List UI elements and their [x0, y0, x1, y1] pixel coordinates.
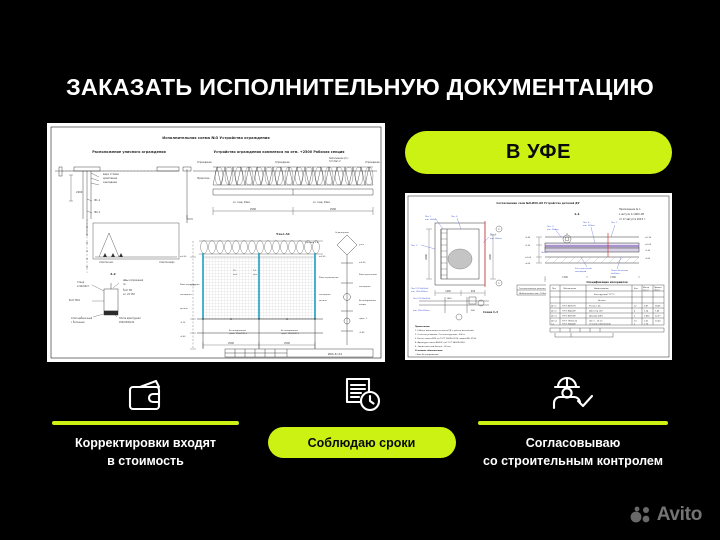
- svg-text:ГОСТ 19903-74: ГОСТ 19903-74: [562, 321, 578, 323]
- wallet-icon: [126, 374, 166, 414]
- svg-text:-0.60: -0.60: [645, 258, 651, 260]
- svg-text:эл. соед. d4мм: эл. соед. d4мм: [233, 201, 250, 204]
- svg-text:±0.00: ±0.00: [319, 256, 326, 258]
- svg-text:закладная: закладная: [359, 286, 371, 288]
- svg-text:±0.00: ±0.00: [359, 262, 366, 264]
- svg-text:Узел А1: Узел А1: [276, 232, 290, 236]
- svg-text:Плита арматурная: Плита арматурная: [119, 317, 141, 320]
- avito-logo: Avito: [630, 504, 702, 526]
- svg-text:-0.60: -0.60: [525, 263, 531, 265]
- svg-text:закладная: закладная: [319, 294, 331, 296]
- svg-text:Детали: Детали: [598, 300, 606, 302]
- svg-text:ГОСТ 5264-80: ГОСТ 5264-80: [562, 324, 576, 326]
- svg-text:шаг 100х100мм: шаг 100х100мм: [411, 291, 428, 293]
- foundation-section-drawing: Согласование схем №8-ИОС-08 Устройство д…: [405, 193, 672, 360]
- svg-text:отм.: отм.: [233, 274, 238, 276]
- svg-text:-0.45: -0.45: [525, 237, 531, 239]
- svg-text:отм.: отм.: [253, 274, 258, 276]
- svg-text:Согласование схем №8-ИОС-08 Ус: Согласование схем №8-ИОС-08 Устройство д…: [496, 201, 579, 205]
- svg-text:Расположение уличного огражден: Расположение уличного ограждения: [92, 150, 166, 154]
- svg-text:Поз.: Поз.: [552, 288, 557, 290]
- svg-text:масса: масса: [654, 290, 660, 292]
- svg-text:Поз. 3: Поз. 3: [547, 226, 554, 228]
- svg-text:Поз. 6: Поз. 6: [451, 216, 458, 218]
- feature-label: Соблюдаю сроки: [308, 436, 416, 450]
- specification-table: Спецификация материалов Поз. Обозначение…: [546, 278, 668, 333]
- svg-text:болт М1: болт М1: [123, 289, 133, 292]
- svg-text:отметка верх: отметка верх: [159, 261, 175, 264]
- svg-text:-0.60: -0.60: [180, 336, 186, 338]
- svg-text:Сетка В-1 d4 100х100: Сетка В-1 d4 100х100: [589, 324, 611, 326]
- svg-text:4. Арматура класса А500С по ГО: 4. Арматура класса А500С по ГОСТ 34028-2…: [415, 341, 466, 344]
- svg-text:3. Бетон класса В25 по ГОСТ 26: 3. Бетон класса В25 по ГОСТ 26633-2015, …: [415, 338, 477, 340]
- svg-text:Рама крепления: Рама крепления: [359, 274, 378, 276]
- svg-text:Двутавр 20Б1: Двутавр 20Б1: [589, 316, 604, 318]
- feature-corrections-included: Корректировки входят в стоимость: [52, 374, 239, 470]
- svg-text:шаг 100мм: шаг 100мм: [547, 229, 559, 231]
- feature-deadlines: Соблюдаю сроки: [268, 374, 455, 458]
- svg-text:Поз. 7: Поз. 7: [611, 222, 618, 224]
- svg-text:Ограждение: Ограждение: [275, 161, 290, 164]
- svg-text:2500: 2500: [250, 208, 257, 211]
- svg-text:2000: 2000: [489, 254, 492, 260]
- svg-text:ИОС-3с-К1: ИОС-3с-К1: [328, 352, 343, 356]
- svg-text:ГОСТ 8509-93: ГОСТ 8509-93: [562, 306, 576, 308]
- svg-text:+0.30: +0.30: [645, 236, 652, 239]
- svg-text:h=50мм: h=50мм: [611, 273, 620, 275]
- svg-text:+0.00: +0.00: [645, 243, 652, 246]
- svg-text:Поз.1 D 50х50х5: Поз.1 D 50х50х5: [413, 298, 431, 300]
- svg-text:эл. соед. d4мм: эл. соед. d4мм: [313, 201, 330, 204]
- svg-text:Поз. 2: Поз. 2: [541, 252, 548, 254]
- feature-divider: [478, 421, 668, 425]
- svg-text:Рама ограждения: Рама ограждения: [180, 284, 200, 286]
- feature-construction-control: Согласовываю со строительным контролем: [478, 374, 668, 470]
- svg-text:1400: 1400: [446, 298, 452, 300]
- svg-text:м 90х90х7: м 90х90х7: [77, 285, 90, 288]
- svg-text:- Зона бетонирования;: - Зона бетонирования;: [415, 353, 439, 356]
- svg-text:шаг 100мм: шаг 100мм: [490, 238, 502, 240]
- svg-text:от 17 августа 2023 г.: от 17 августа 2023 г.: [619, 218, 646, 221]
- svg-text:опоры: опоры: [359, 304, 366, 306]
- avito-dots-icon: [630, 506, 652, 524]
- svg-text:5. Защитный слой бетона - 30 м: 5. Защитный слой бетона - 30 мм.: [415, 345, 451, 348]
- feature-pill: Соблюдаю сроки: [268, 427, 456, 458]
- svg-text:Таблица 1.4: Таблица 1.4: [305, 241, 319, 244]
- location-badge: В УФЕ: [405, 131, 672, 174]
- svg-text:шаг 100мм: шаг 100мм: [425, 219, 437, 221]
- svg-text:кл. 24 150: кл. 24 150: [123, 293, 135, 296]
- svg-text:Поз.1 D 50х50х5: Поз.1 D 50х50х5: [411, 288, 429, 290]
- svg-text:Дет.2: Дет.2: [551, 311, 557, 313]
- worker-check-icon: [550, 374, 596, 414]
- svg-text:отметка низ: отметка низ: [99, 261, 114, 264]
- svg-text:Узел крепления: Узел крепления: [575, 268, 593, 270]
- svg-text:1. Работы выполнены согласно Р: 1. Работы выполнены согласно РД с учётом…: [415, 329, 474, 332]
- svg-text:1.802: 1.802: [644, 316, 650, 318]
- svg-text:ГОСТ 8240-89: ГОСТ 8240-89: [562, 311, 576, 313]
- svg-text:2400: 2400: [76, 190, 83, 194]
- svg-text:крепление: крепление: [103, 177, 118, 180]
- svg-text:12.57: 12.57: [655, 316, 661, 318]
- svg-text:2000: 2000: [425, 254, 428, 260]
- svg-text:закладной: закладной: [575, 270, 587, 273]
- svg-text:Стенд: Стенд: [77, 281, 85, 284]
- svg-text:трам. 100х100-1: трам. 100х100-1: [229, 333, 248, 335]
- svg-text:Исполнительная схема №3 Устрой: Исполнительная схема №3 Устройство ограж…: [162, 136, 270, 140]
- svg-text:18.45: 18.45: [655, 306, 661, 308]
- svg-text:-0.60: -0.60: [359, 332, 365, 334]
- svg-text:Кол.: Кол.: [634, 288, 639, 290]
- svg-text:h=1 Бет.2: h=1 Бет.2: [329, 160, 341, 163]
- svg-text:Поз. 2: Поз. 2: [411, 245, 418, 247]
- svg-text:закладная: закладная: [180, 294, 192, 296]
- svg-text:Условные обозначения:: Условные обозначения:: [415, 349, 443, 352]
- svg-text:Спецификация материалов: Спецификация материалов: [586, 280, 628, 284]
- svg-text:Дет.3: Дет.3: [551, 316, 557, 318]
- svg-text:Бетонирование: Бетонирование: [281, 330, 299, 332]
- svg-text:2000х300х20: 2000х300х20: [119, 321, 135, 324]
- svg-text:Ограждение: Ограждение: [197, 161, 212, 164]
- svg-text:с бетонным: с бетонным: [71, 321, 85, 324]
- svg-text:2500: 2500: [330, 208, 337, 211]
- svg-text:2500: 2500: [284, 342, 290, 345]
- svg-text:+0.00: +0.00: [525, 256, 532, 259]
- svg-text:Поз. 4: Поз. 4: [583, 222, 590, 224]
- svg-text:трам. 1: трам. 1: [359, 318, 368, 320]
- document-clock-icon: [342, 374, 382, 414]
- fence-construction-drawing: Исполнительная схема №3 Устройство ограж…: [47, 123, 385, 362]
- location-badge-label: В УФЕ: [506, 141, 571, 164]
- svg-text:узел: узел: [359, 244, 365, 246]
- svg-text:деталь: деталь: [180, 308, 189, 310]
- svg-text:Ф2-1: Ф2-1: [94, 210, 101, 214]
- svg-text:Ф1-1: Ф1-1: [94, 198, 101, 202]
- svg-text:верх стойки: верх стойки: [103, 172, 119, 176]
- svg-text:Слой щебеночный: Слой щебеночный: [71, 317, 93, 320]
- svg-text:шаг 100мм: шаг 100мм: [583, 225, 595, 227]
- svg-text:-0.15: -0.15: [180, 322, 186, 324]
- svg-text:трам. 100х100-1: трам. 100х100-1: [281, 333, 300, 335]
- svg-text:Ограждение: Ограждение: [365, 161, 380, 164]
- svg-text:деталь: деталь: [319, 300, 328, 302]
- svg-text:Бетонирование: Бетонирование: [359, 300, 377, 302]
- svg-text:-0.30: -0.30: [525, 245, 531, 247]
- svg-text:400: 400: [471, 290, 476, 293]
- feature-label: Корректировки входят в стоимость: [75, 434, 216, 470]
- svg-text:Устройство ограждения комплекс: Устройство ограждения комплекса на отм. …: [214, 150, 345, 154]
- svg-text:Конструкции ГОСТ 1: Конструкции ГОСТ 1: [594, 294, 615, 296]
- svg-text:Обозначение: Обозначение: [563, 287, 577, 290]
- svg-text:Проволока: Проволока: [197, 177, 210, 180]
- svg-text:Наименование: Наименование: [594, 288, 610, 290]
- svg-text:2. Отметки условные. Ось конст: 2. Отметки условные. Ось конструкции - 0…: [415, 334, 466, 336]
- svg-text:Приложение № 1: Приложение № 1: [619, 208, 641, 211]
- svg-text:шаг 100х100мм: шаг 100х100мм: [413, 310, 430, 312]
- svg-text:2500: 2500: [228, 342, 234, 345]
- svg-text:Швы сопряжения: Швы сопряжения: [123, 279, 144, 282]
- svg-text:Примечания:: Примечания:: [415, 326, 430, 328]
- svg-text:Поз. 1: Поз. 1: [425, 216, 432, 218]
- svg-text:1400: 1400: [445, 290, 451, 293]
- svg-text:Швеллер 12П: Швеллер 12П: [589, 311, 603, 313]
- svg-text:Плита бетонная: Плита бетонная: [611, 269, 629, 272]
- svg-text:Бетонирование: Бетонирование: [229, 330, 247, 332]
- svg-text:Болт М16: Болт М16: [69, 299, 80, 302]
- features-row: Корректировки входят в стоимость Соблюда…: [0, 374, 720, 484]
- svg-text:Лист т. 10 мм: Лист т. 10 мм: [589, 321, 603, 323]
- svg-text:ГОСТ 8239-89: ГОСТ 8239-89: [562, 316, 576, 318]
- svg-text:Схема С-3: Схема С-3: [483, 310, 498, 314]
- svg-text:2-2: 2-2: [110, 272, 115, 276]
- svg-text:закладная: закладная: [103, 181, 117, 184]
- fence-construction-drawing-panel: Исполнительная схема №3 Устройство ограж…: [47, 123, 385, 362]
- page-title: ЗАКАЗАТЬ ИСПОЛНИТЕЛЬНУЮ ДОКУМЕНТАЦИЮ: [0, 74, 720, 101]
- svg-text:Рама ограждения: Рама ограждения: [319, 277, 339, 279]
- svg-text:Дет.1: Дет.1: [551, 306, 557, 308]
- svg-text:-0.30: -0.30: [645, 250, 651, 252]
- svg-text:±0.00: ±0.00: [180, 256, 187, 258]
- avito-wordmark: Avito: [657, 504, 702, 526]
- feature-label: Согласовываю со строительным контролем: [483, 434, 663, 470]
- foundation-section-drawing-panel: Согласование схем №8-ИОС-08 Устройство д…: [405, 193, 672, 360]
- svg-text:10.40: 10.40: [655, 321, 661, 323]
- svg-text:к акту № 1с-ИОС-08: к акту № 1с-ИОС-08: [619, 213, 644, 216]
- feature-divider: [52, 421, 239, 425]
- svg-text:Уголок L 45: Уголок L 45: [589, 306, 601, 308]
- svg-text:Ограждение: Ограждение: [335, 232, 350, 234]
- svg-text:1-1: 1-1: [574, 212, 579, 216]
- svg-text:Дет.4: Дет.4: [551, 321, 557, 323]
- svg-text:Щебеночный слой - 100мм: Щебеночный слой - 100мм: [519, 292, 548, 295]
- svg-text:ед.,кг: ед.,кг: [643, 290, 649, 292]
